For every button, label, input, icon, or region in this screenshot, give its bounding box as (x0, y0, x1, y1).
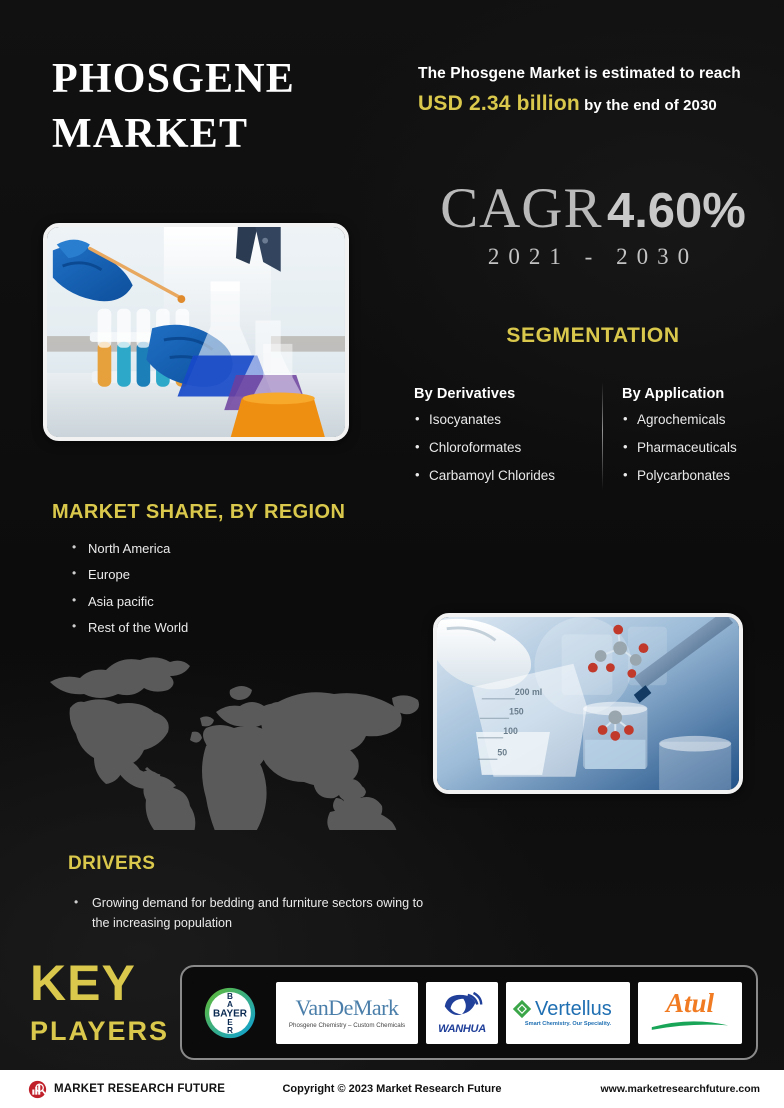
page-title-line1: PHOSGENE (52, 56, 295, 102)
estimate-lead: The Phosgene Market is estimated to reac… (418, 65, 741, 82)
key-players-panel: BAYER B A E R VanDeMark Phosgene Chemist… (180, 965, 758, 1060)
vertellus-wordmark: Vertellus (535, 999, 612, 1019)
key-players-label-top: KEY (30, 958, 136, 1008)
svg-text:50: 50 (497, 747, 507, 757)
logo-bayer[interactable]: BAYER B A E R (192, 982, 268, 1044)
page-title: PHOSGENE MARKET (52, 52, 382, 163)
wanhua-mark-graphic (439, 991, 485, 1018)
world-map-graphic (20, 640, 420, 830)
lab-photo-scientist (43, 223, 349, 441)
wanhua-wordmark: WANHUA (426, 1023, 498, 1035)
atul-swoosh-graphic (650, 1019, 730, 1030)
logo-wanhua[interactable]: WANHUA (426, 982, 498, 1044)
estimate-tail: by the end of 2030 (580, 97, 717, 114)
drivers-item: Growing demand for bedding and furniture… (72, 893, 442, 934)
logo-vertellus[interactable]: Vertellus Smart Chemistry. Our Specialit… (506, 982, 630, 1044)
svg-text:200 ml: 200 ml (515, 687, 542, 697)
lab-photo-beaker: 200 ml 150 100 50 (433, 613, 743, 794)
bayer-logo-graphic: BAYER B A E R (197, 983, 263, 1043)
market-share-region: North America (70, 542, 188, 556)
segmentation-item: Polycarbonates (622, 469, 772, 484)
logo-atul[interactable]: Atul (638, 982, 742, 1044)
segmentation-column-derivatives: By Derivatives Isocyanates Chloroformate… (414, 386, 596, 497)
vertellus-tagline: Smart Chemistry. Our Speciality. (512, 1021, 624, 1027)
svg-text:R: R (227, 1025, 233, 1034)
cagr-label: CAGR (440, 177, 602, 240)
cagr-block: CAGR 4.60% (418, 176, 768, 241)
estimate-value: USD 2.34 billion (418, 92, 580, 115)
segmentation-title: SEGMENTATION (418, 324, 768, 348)
segmentation-heading: By Derivatives (414, 386, 590, 402)
segmentation-column-application: By Application Agrochemicals Pharmaceuti… (596, 386, 778, 497)
lab-photo-beaker-graphic: 200 ml 150 100 50 (437, 617, 739, 793)
drivers-title: DRIVERS (68, 853, 155, 875)
footer: MARKET RESEARCH FUTURE Copyright © 2023 … (0, 1070, 784, 1108)
market-share-region: Europe (70, 568, 188, 582)
segmentation-heading: By Application (622, 386, 772, 402)
svg-text:100: 100 (503, 726, 518, 736)
logo-vandemark[interactable]: VanDeMark Phosgene Chemistry – Custom Ch… (276, 982, 418, 1044)
segmentation-item: Carbamoyl Chlorides (414, 469, 590, 484)
footer-url[interactable]: www.marketresearchfuture.com (600, 1083, 760, 1095)
vandemark-wordmark: VanDeMark (276, 997, 418, 1019)
segmentation-item: Agrochemicals (622, 413, 772, 428)
segmentation-item: Chloroformates (414, 441, 590, 456)
segmentation-item: Isocyanates (414, 413, 590, 428)
segmentation-item: Pharmaceuticals (622, 441, 772, 456)
segmentation-columns: By Derivatives Isocyanates Chloroformate… (414, 386, 778, 497)
market-share-region: Rest of the World (70, 621, 188, 635)
key-players-label-bottom: PLAYERS (30, 1018, 169, 1045)
svg-text:A: A (227, 999, 233, 1008)
cagr-value: 4.60% (607, 184, 746, 238)
svg-text:150: 150 (509, 706, 524, 716)
market-share-list: North America Europe Asia pacific Rest o… (70, 542, 188, 647)
market-share-title: MARKET SHARE, BY REGION (52, 501, 345, 524)
world-map (20, 640, 420, 830)
vertellus-diamond-icon (512, 999, 532, 1019)
lab-photo-scientist-graphic (47, 227, 345, 439)
page-title-line2: MARKET (52, 107, 382, 162)
cagr-period: 2021 - 2030 (418, 244, 768, 270)
vandemark-tagline: Phosgene Chemistry – Custom Chemicals (276, 1022, 418, 1029)
market-share-region: Asia pacific (70, 595, 188, 609)
market-estimate: The Phosgene Market is estimated to reac… (418, 62, 768, 120)
atul-wordmark: Atul (638, 990, 742, 1017)
